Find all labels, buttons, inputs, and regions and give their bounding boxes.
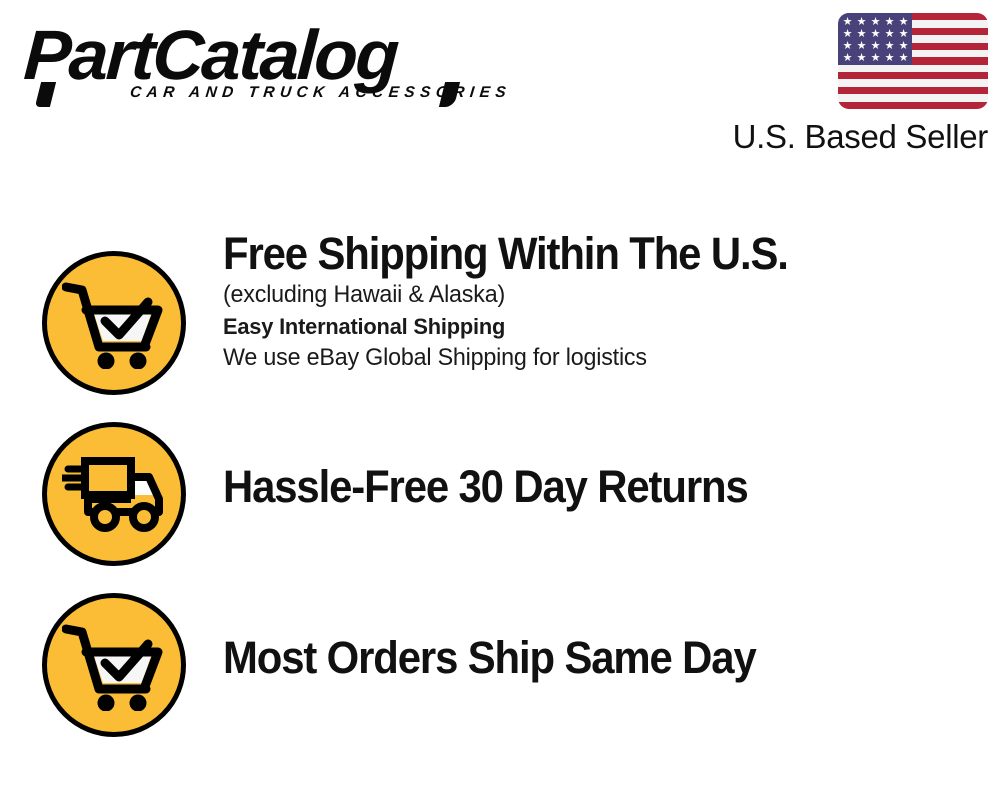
feature-text-block: Hassle-Free 30 Day Returns — [223, 462, 1000, 512]
delivery-truck-icon — [42, 422, 186, 566]
delivery-truck-glyph — [62, 455, 166, 533]
feature-subline-heading: Easy International Shipping — [223, 311, 989, 342]
feature-text-block: Most Orders Ship Same Day — [223, 633, 1000, 683]
feature-subline: We use eBay Global Shipping for logistic… — [223, 342, 989, 374]
feature-list: Free Shipping Within The U.S. (excluding… — [0, 0, 1000, 800]
feature-text-block: Free Shipping Within The U.S. (excluding… — [223, 229, 1000, 374]
shopping-cart-check-icon — [42, 593, 186, 737]
cart-check-glyph — [62, 277, 166, 369]
feature-headline: Most Orders Ship Same Day — [223, 633, 958, 683]
feature-subline: (excluding Hawaii & Alaska) — [223, 279, 989, 311]
cart-check-glyph — [62, 619, 166, 711]
feature-headline: Hassle-Free 30 Day Returns — [223, 462, 958, 512]
shopping-cart-check-icon — [42, 251, 186, 395]
feature-headline: Free Shipping Within The U.S. — [223, 229, 958, 279]
